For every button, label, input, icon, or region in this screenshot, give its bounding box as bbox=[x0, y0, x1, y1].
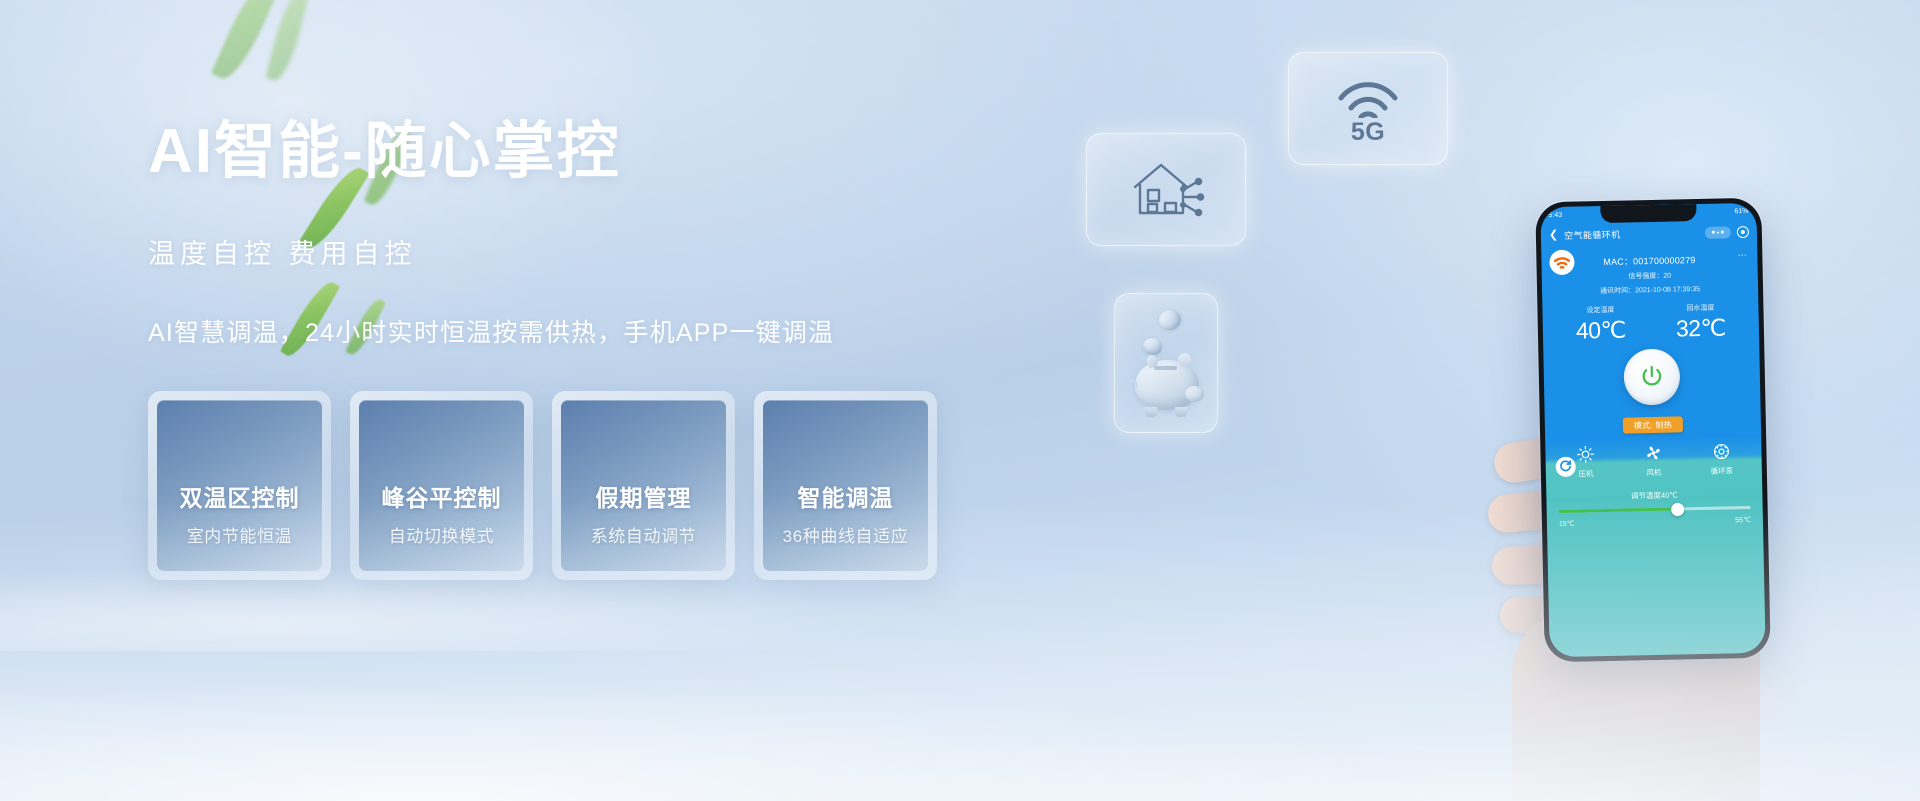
readout-return-water-temperature: 回水温度 32℃ bbox=[1675, 302, 1726, 342]
function-circulation-pump[interactable]: 循环泵 bbox=[1695, 442, 1748, 477]
device-comm-time: 通讯时间：2021-10-08 17:39:35 bbox=[1552, 283, 1748, 297]
feature-card-subtitle: 室内节能恒温 bbox=[187, 522, 293, 547]
more-horizontal-icon[interactable]: ⋯ bbox=[1738, 250, 1749, 261]
leaf-decoration bbox=[265, 0, 308, 83]
piggy-bank-icon bbox=[1115, 294, 1217, 432]
power-button-wrap bbox=[1543, 347, 1760, 408]
feature-card[interactable]: 双温区控制 室内节能恒温 bbox=[148, 391, 331, 580]
function-row: 压机 风机 bbox=[1545, 442, 1762, 481]
feature-card[interactable]: 峰谷平控制 自动切换模式 bbox=[350, 391, 533, 580]
device-signal: 信号强度：20 bbox=[1552, 269, 1748, 283]
phone-mockup: 5:43 61% ❮ 空气能循环机 ⋯ MAC：001700000 bbox=[1535, 198, 1771, 663]
slider-min-label: 15℃ bbox=[1559, 520, 1575, 528]
readout-label: 回水温度 bbox=[1675, 302, 1725, 313]
readout-value: 40℃ bbox=[1576, 317, 1626, 345]
temperature-readouts: 设定温度 40℃ 回水温度 32℃ bbox=[1542, 302, 1759, 346]
network-label: 5G bbox=[1289, 118, 1447, 147]
readout-set-temperature: 设定温度 40℃ bbox=[1575, 305, 1626, 345]
slider-range: 15℃ 55℃ bbox=[1559, 516, 1751, 528]
feature-card-subtitle: 系统自动调节 bbox=[591, 522, 697, 547]
power-button[interactable] bbox=[1623, 348, 1680, 405]
fan-icon bbox=[1645, 455, 1663, 464]
page-title: AI智能-随心掌控 bbox=[148, 118, 1028, 186]
readout-value: 32℃ bbox=[1676, 314, 1726, 342]
statusbar-time: 5:43 bbox=[1548, 212, 1562, 219]
leaf-decoration bbox=[211, 0, 281, 85]
phone-screen: 5:43 61% ❮ 空气能循环机 ⋯ MAC：001700000 bbox=[1540, 203, 1765, 657]
slider-title: 调节温度40℃ bbox=[1558, 488, 1750, 503]
temperature-slider[interactable] bbox=[1559, 506, 1751, 513]
function-label: 循环泵 bbox=[1696, 465, 1748, 477]
feature-card-title: 假期管理 bbox=[596, 479, 692, 513]
feature-card-title: 峰谷平控制 bbox=[382, 479, 502, 513]
feature-card-list: 双温区控制 室内节能恒温 峰谷平控制 自动切换模式 假期管理 系统自动调节 智能… bbox=[148, 391, 937, 580]
target-icon[interactable] bbox=[1737, 225, 1749, 237]
slider-max-label: 55℃ bbox=[1735, 516, 1751, 524]
hero-subhead: 温度自控 费用自控 bbox=[148, 232, 1028, 271]
slider-knob[interactable] bbox=[1671, 502, 1684, 515]
hero-copy: AI智能-随心掌控 温度自控 费用自控 AI智慧调温，24小时实时恒温按需供热，… bbox=[148, 118, 1028, 349]
more-capsule-icon[interactable] bbox=[1705, 226, 1731, 239]
slider-fill bbox=[1559, 508, 1678, 513]
wifi-signal-icon bbox=[1335, 78, 1401, 118]
power-icon bbox=[1640, 364, 1665, 390]
wifi-icon bbox=[1549, 250, 1575, 276]
temperature-slider-block: 调节温度40℃ 15℃ 55℃ bbox=[1546, 488, 1763, 529]
feature-card-title: 双温区控制 bbox=[180, 479, 300, 513]
feature-card-title: 智能调温 bbox=[798, 479, 894, 513]
feature-card[interactable]: 假期管理 系统自动调节 bbox=[552, 391, 735, 580]
device-mac: MAC：001700000279 bbox=[1551, 252, 1747, 269]
statusbar-battery: 61% bbox=[1734, 208, 1748, 215]
mode-badge: 模式: 制热 bbox=[1623, 416, 1684, 433]
hero-description: AI智慧调温，24小时实时恒温按需供热，手机APP一键调温 bbox=[148, 313, 1028, 349]
function-fan[interactable]: 风机 bbox=[1627, 443, 1680, 478]
refresh-icon bbox=[1560, 460, 1572, 474]
feature-card-subtitle: 36种曲线自适应 bbox=[783, 522, 909, 547]
feature-card[interactable]: 智能调温 36种曲线自适应 bbox=[754, 391, 937, 580]
sun-icon bbox=[1577, 456, 1595, 465]
device-info-block: ⋯ MAC：001700000279 信号强度：20 通讯时间：2021-10-… bbox=[1541, 244, 1758, 298]
readout-label: 设定温度 bbox=[1575, 305, 1625, 316]
app-title: 空气能循环机 bbox=[1564, 226, 1699, 242]
pump-gear-icon bbox=[1713, 453, 1731, 462]
network-tile: 5G bbox=[1288, 52, 1448, 165]
savings-tile bbox=[1114, 293, 1218, 433]
function-label: 风机 bbox=[1628, 466, 1680, 478]
smart-home-icon bbox=[1127, 159, 1205, 221]
chevron-left-icon[interactable]: ❮ bbox=[1549, 230, 1558, 241]
feature-card-subtitle: 自动切换模式 bbox=[389, 522, 495, 547]
smart-home-tile bbox=[1086, 133, 1246, 246]
hero-banner: AI智能-随心掌控 温度自控 费用自控 AI智慧调温，24小时实时恒温按需供热，… bbox=[0, 0, 1920, 801]
